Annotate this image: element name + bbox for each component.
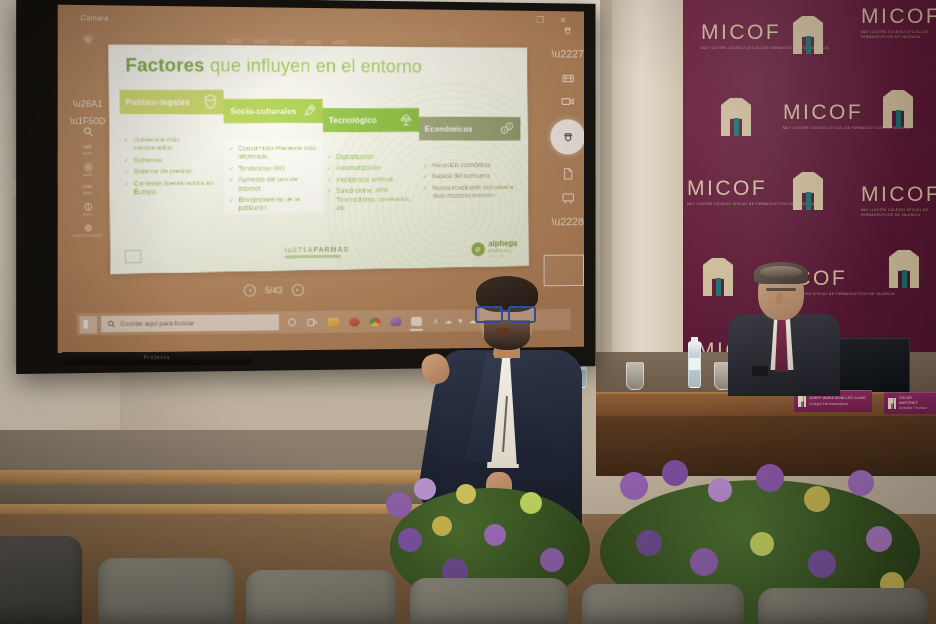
money-cycle-icon: [499, 120, 514, 137]
alphega-tagline: closer to you: [489, 253, 518, 257]
panelist-nose: [776, 292, 783, 304]
search-placeholder: Escribe aquí para buscar: [121, 320, 195, 328]
placard-name: ÓSCAR MARTÍNEZ: [899, 396, 932, 407]
micof-m-glyph: [889, 250, 919, 288]
photo-canvas: MICOF MUY ILUSTRE COLEGIO OFICIAL DE FAR…: [0, 0, 936, 624]
shutter-button-icon[interactable]: [550, 119, 584, 154]
micof-m-glyph: [798, 396, 806, 407]
chevron-up-icon[interactable]: \u2227: [551, 49, 583, 60]
screen-brand-label: Projecta: [62, 352, 252, 365]
placard-role: Director Técnico: [899, 406, 932, 411]
bullet-item: Inteligencia artificial.: [327, 176, 415, 185]
projection-screen-base: Projecta: [62, 352, 252, 365]
flash-icon[interactable]: \u26A1: [73, 99, 102, 109]
slide-decor-mark: [125, 250, 142, 264]
bullet-item: Gobiernos más fraccionados.: [124, 136, 221, 154]
slide-title: Factores que influyen en el entorno: [125, 55, 422, 78]
white-balance-icon[interactable]: WB auto: [83, 144, 92, 155]
camera-settings-icon[interactable]: [562, 25, 574, 37]
focus-magnifier-icon[interactable]: \u1F50D: [70, 116, 106, 137]
column-bullets: Digitalización Automatización Inteligenc…: [323, 148, 420, 214]
slide-column-economicos: Económicos Recesión económica Bajada del…: [419, 117, 521, 217]
micof-subtitle: MUY ILUSTRE COLEGIO OFICIAL DE FARMACEUT…: [687, 202, 815, 207]
app-icon[interactable]: [387, 313, 404, 330]
brightness-icon[interactable]: auto: [83, 202, 92, 216]
water-glass: [626, 362, 644, 390]
chevron-down-icon[interactable]: \u2228: [551, 217, 583, 228]
micof-wordmark: MICOF: [861, 6, 936, 27]
search-icon: [107, 320, 115, 328]
slide-column-politico-legales: Político-legales Gobiernos más fracciona…: [119, 90, 225, 214]
column-bullets: Recesión económica Bajada del consumo Nu…: [419, 156, 521, 202]
cortana-icon[interactable]: [283, 314, 300, 331]
gear-icon[interactable]: [83, 31, 94, 42]
bullet-item: Subastas: [124, 156, 221, 165]
column-header-label: Socio-culturales: [230, 107, 296, 116]
iso-icon[interactable]: auto: [83, 163, 92, 177]
antivirus-shield-icon[interactable]: [346, 313, 363, 330]
column-header: Económicos: [419, 117, 521, 141]
tech-stamp-icon: [398, 112, 413, 129]
panelist-brow: [766, 288, 796, 291]
panelist-phone: [752, 366, 768, 376]
bullet-item: Digitalización: [327, 154, 415, 163]
audience-seat: [98, 558, 234, 624]
panorama-icon[interactable]: [561, 73, 573, 84]
video-mode-icon[interactable]: [561, 97, 574, 107]
bullet-item: Aumento del uso de internet: [229, 176, 319, 194]
column-header: Tecnológico: [323, 108, 419, 132]
slide-title-bold: Factores: [125, 55, 204, 76]
micof-subtitle: MUY ILUSTRE COLEGIO OFICIAL DE FARMACEUT…: [861, 208, 936, 218]
bullet-item: Recesión económica: [423, 162, 517, 171]
micof-m-glyph: [888, 398, 896, 409]
bullet-item: Nueva revolución industrial a nivel macr…: [423, 184, 517, 201]
start-button[interactable]: [79, 316, 97, 333]
micof-subtitle: MUY ILUSTRE COLEGIO OFICIAL DE FARMACEUT…: [861, 30, 936, 40]
bullet-item: Consumidor-Paciente más informado.: [229, 145, 319, 162]
farmas-logo: \u271AFARMAS: [285, 247, 349, 259]
micof-subtitle: MUY ILUSTRE COLEGIO OFICIAL DE FARMACEUT…: [701, 46, 829, 51]
water-bottle: [688, 341, 701, 388]
camera-pro-controls[interactable]: \u26A1 \u1F50D WB auto auto 1/60 auto au…: [74, 99, 101, 238]
micof-wordmark: MICOF: [687, 178, 815, 199]
camera-app-title: Cámara: [80, 15, 108, 22]
speaker-mouth: [496, 328, 510, 335]
micof-m-glyph: [883, 90, 913, 128]
audience-seat: [246, 570, 396, 624]
seated-panelist: [722, 262, 862, 394]
bullet-item: Tendencias BIO: [229, 165, 319, 174]
alphega-logo: e alphega pharmacy closer to you: [471, 240, 517, 258]
audience-seat: [582, 584, 744, 624]
column-header-label: Político-legales: [126, 97, 190, 106]
farmas-logo-text: FARMAS: [314, 247, 349, 255]
bullet-item: Bajada del consumo: [423, 173, 517, 182]
placard-role: Colegio Farmacéuticos: [809, 402, 866, 407]
column-header-label: Tecnológico: [329, 116, 377, 125]
slide-title-rest: que influyen en el entorno: [205, 55, 422, 76]
slide-column-tecnologico: Tecnológico Digitalización Automatizació…: [323, 108, 420, 229]
document-scan-icon[interactable]: [562, 167, 573, 180]
panelist-hair: [754, 262, 808, 284]
task-view-icon[interactable]: [304, 313, 321, 330]
search-input[interactable]: Escribe aquí para buscar: [101, 314, 279, 332]
previous-slide-button[interactable]: ◂: [244, 284, 256, 296]
bullet-item: Sistema de precios: [124, 168, 221, 177]
micof-m-glyph: [721, 98, 751, 136]
micof-m-glyph: [793, 172, 823, 210]
bullet-item: Corriente liberalizadora en Europa.: [124, 179, 221, 197]
camera-mode-rail[interactable]: \u2227 \u2228: [544, 25, 584, 228]
name-placard: ÓSCAR MARTÍNEZ Director Técnico: [884, 392, 936, 414]
column-header: Político-legales: [119, 90, 224, 115]
slide-columns: Político-legales Gobiernos más fracciona…: [119, 90, 521, 233]
audience-seat: [410, 578, 568, 624]
eyeglasses: [475, 306, 537, 319]
slide-counter: 5/43: [265, 285, 283, 295]
speaker-beard: [484, 320, 530, 350]
bullet-item: Envejecimiento de la población: [229, 196, 319, 214]
slide-column-socio-culturales: Socio-culturales Consumidor-Paciente más…: [224, 99, 323, 230]
slide-navigation[interactable]: ◂ 5/43 ▸: [244, 284, 304, 296]
file-explorer-icon[interactable]: [325, 313, 342, 330]
bullet-item: Salud online. APP, Telemedicina, conteni…: [327, 187, 415, 213]
micof-subtitle: MUY ILUSTRE COLEGIO OFICIAL DE FARMACEUT…: [783, 126, 911, 131]
micof-wordmark: MICOF: [861, 184, 936, 205]
audience-seat: [0, 536, 82, 624]
alphega-mark-icon: e: [471, 242, 485, 256]
column-header: Socio-culturales: [224, 99, 323, 123]
pro-settings-icon[interactable]: \u25CF\u25CF: [72, 224, 103, 238]
column-bullets: Consumidor-Paciente más informado. Tende…: [224, 139, 323, 214]
rocket-icon: [302, 103, 317, 120]
bullet-item: Automatización: [327, 165, 415, 174]
column-bullets: Gobiernos más fraccionados. Subastas Sis…: [120, 130, 225, 197]
audience-seat: [758, 588, 928, 624]
shield-icon: [204, 93, 218, 110]
powerpoint-slide: Factores que influyen en el entorno Polí…: [108, 44, 528, 274]
column-header-label: Económicos: [425, 124, 473, 133]
shutter-speed-icon[interactable]: 1/60 auto: [83, 184, 93, 195]
micof-wordmark: MICOF: [783, 102, 911, 123]
micof-m-glyph: [793, 16, 823, 54]
whiteboard-scan-icon[interactable]: [561, 193, 573, 205]
next-slide-button[interactable]: ▸: [292, 284, 304, 296]
micof-wordmark: MICOF: [701, 22, 829, 43]
chrome-icon[interactable]: [367, 313, 384, 330]
